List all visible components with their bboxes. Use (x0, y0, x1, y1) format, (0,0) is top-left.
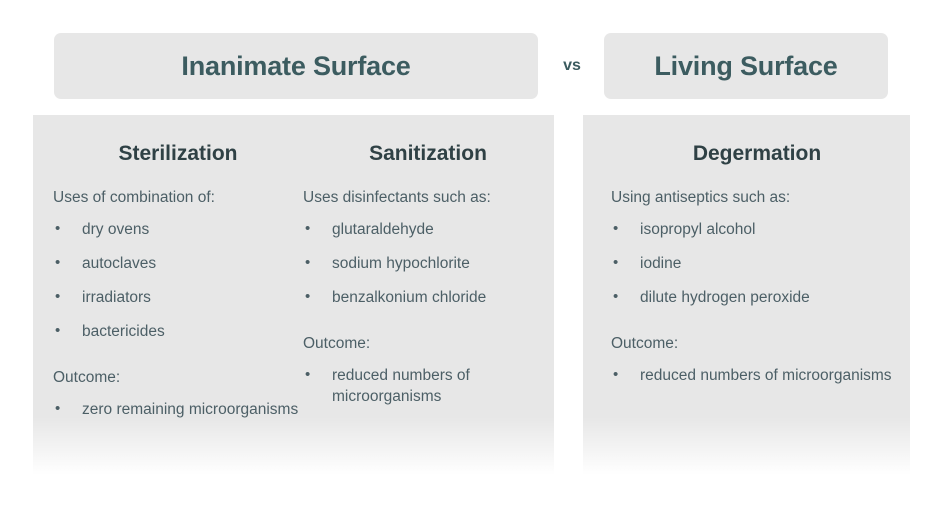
column-sanitization-methods: Uses disinfectants such as: • glutaralde… (303, 187, 553, 314)
column-sterilization-outcome-label: Outcome: (53, 367, 303, 388)
bullet-icon: • (55, 320, 60, 341)
column-degermation-item-list: • isopropyl alcohol • iodine • dilute hy… (611, 212, 903, 314)
column-degermation-heading: Degermation (611, 140, 903, 168)
list-item-label: sodium hypochlorite (332, 255, 470, 272)
column-degermation: Degermation Using antiseptics such as: •… (611, 115, 903, 392)
header-row: Inanimate Surface vs Living Surface (0, 33, 940, 99)
list-item-label: autoclaves (82, 255, 156, 272)
header-pill-inanimate-surface-label: Inanimate Surface (181, 51, 410, 82)
bullet-icon: • (305, 252, 310, 273)
column-sterilization-lead: Uses of combination of: (53, 187, 303, 208)
bullet-icon: • (305, 218, 310, 239)
list-item-label: reduced numbers of microorganisms (640, 367, 892, 384)
column-degermation-methods: Using antiseptics such as: • isopropyl a… (611, 187, 903, 314)
bullet-icon: • (55, 252, 60, 273)
list-item-label: reduced numbers of microorganisms (332, 367, 470, 405)
column-sanitization-heading: Sanitization (303, 140, 553, 168)
bullet-icon: • (305, 364, 310, 385)
list-item-label: iodine (640, 255, 681, 272)
list-item-label: dry ovens (82, 221, 149, 238)
bullet-icon: • (613, 218, 618, 239)
column-degermation-outcome-list: • reduced numbers of microorganisms (611, 358, 903, 392)
column-sanitization-outcome-list: • reduced numbers of microorganisms (303, 358, 553, 413)
column-sterilization-outcome-list: • zero remaining microorganisms (53, 392, 303, 426)
column-sanitization-item-list: • glutaraldehyde • sodium hypochlorite •… (303, 212, 553, 314)
list-item-label: benzalkonium chloride (332, 289, 486, 306)
panel-living-surface: Degermation Using antiseptics such as: •… (583, 115, 910, 475)
list-item: • reduced numbers of microorganisms (611, 358, 903, 392)
list-item-label: zero remaining microorganisms (82, 401, 298, 418)
list-item: • benzalkonium chloride (303, 280, 553, 314)
column-degermation-outcome-label: Outcome: (611, 333, 903, 354)
list-item: • autoclaves (53, 246, 303, 280)
column-sterilization-methods: Uses of combination of: • dry ovens • au… (53, 187, 303, 348)
list-item: • zero remaining microorganisms (53, 392, 303, 426)
column-sterilization-outcome: Outcome: • zero remaining microorganisms (53, 367, 303, 426)
list-item: • glutaraldehyde (303, 212, 553, 246)
panel-inanimate-surface-columns: Sterilization Uses of combination of: • … (33, 115, 554, 475)
list-item: • isopropyl alcohol (611, 212, 903, 246)
bullet-icon: • (55, 286, 60, 307)
bullet-icon: • (305, 286, 310, 307)
infographic-root: Inanimate Surface vs Living Surface Ster… (0, 0, 940, 526)
bullet-icon: • (55, 398, 60, 419)
list-item: • sodium hypochlorite (303, 246, 553, 280)
bullet-icon: • (55, 218, 60, 239)
list-item-label: irradiators (82, 289, 151, 306)
bullet-icon: • (613, 252, 618, 273)
list-item-label: bactericides (82, 323, 165, 340)
bullet-icon: • (613, 286, 618, 307)
list-item: • iodine (611, 246, 903, 280)
list-item: • reduced numbers of microorganisms (303, 358, 553, 413)
column-sterilization-item-list: • dry ovens • autoclaves • irradiators (53, 212, 303, 348)
column-sanitization-outcome: Outcome: • reduced numbers of microorgan… (303, 333, 553, 413)
list-item: • dry ovens (53, 212, 303, 246)
list-item: • bactericides (53, 314, 303, 348)
panel-inanimate-surface: Sterilization Uses of combination of: • … (33, 115, 554, 475)
column-degermation-lead: Using antiseptics such as: (611, 187, 903, 208)
column-sanitization: Sanitization Uses disinfectants such as:… (303, 115, 553, 413)
column-sanitization-outcome-label: Outcome: (303, 333, 553, 354)
list-item-label: dilute hydrogen peroxide (640, 289, 810, 306)
header-pill-inanimate-surface: Inanimate Surface (54, 33, 538, 99)
versus-separator: vs (556, 33, 588, 99)
column-sterilization-heading: Sterilization (53, 140, 303, 168)
column-degermation-outcome: Outcome: • reduced numbers of microorgan… (611, 333, 903, 392)
versus-separator-label: vs (563, 57, 581, 75)
list-item: • dilute hydrogen peroxide (611, 280, 903, 314)
list-item: • irradiators (53, 280, 303, 314)
column-sterilization: Sterilization Uses of combination of: • … (53, 115, 303, 426)
header-pill-living-surface: Living Surface (604, 33, 888, 99)
list-item-label: glutaraldehyde (332, 221, 434, 238)
column-sanitization-lead: Uses disinfectants such as: (303, 187, 553, 208)
header-pill-living-surface-label: Living Surface (654, 51, 837, 82)
panel-living-surface-columns: Degermation Using antiseptics such as: •… (583, 115, 910, 475)
bullet-icon: • (613, 364, 618, 385)
list-item-label: isopropyl alcohol (640, 221, 755, 238)
